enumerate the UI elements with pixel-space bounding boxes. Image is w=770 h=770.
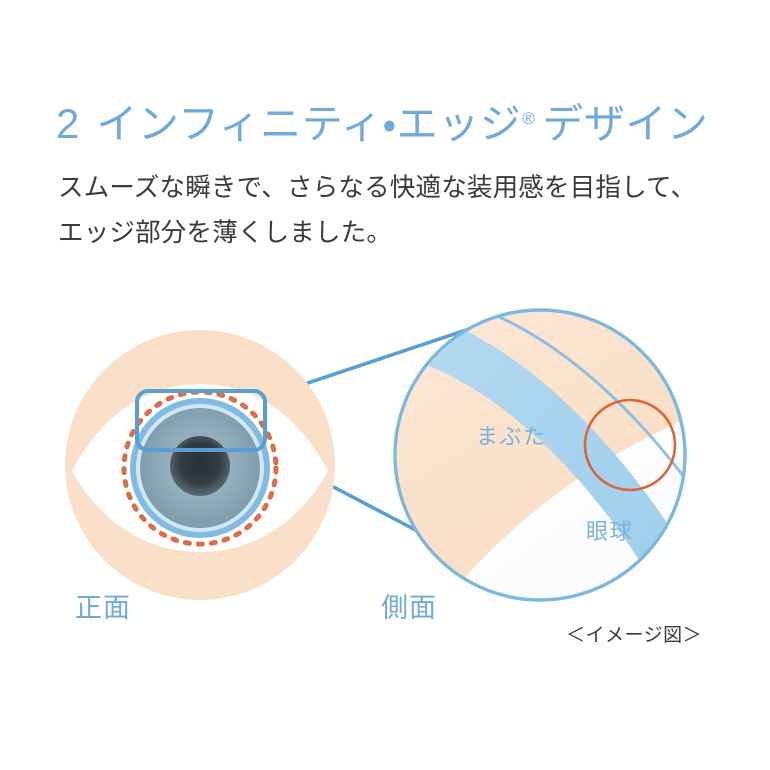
label-front-view: 正面 xyxy=(75,586,131,625)
figure-caption: ＜イメージ図＞ xyxy=(566,620,702,647)
body-paragraph: スムーズな瞬きで、さらなる快適な装用感を目指して、 エッジ部分を薄くしました。 xyxy=(58,166,696,256)
body-line-2: エッジ部分を薄くしました。 xyxy=(58,211,696,256)
body-line-1: スムーズな瞬きで、さらなる快適な装用感を目指して、 xyxy=(58,166,696,211)
front-view-group xyxy=(65,330,335,600)
section-number: 2 xyxy=(56,100,79,148)
label-eyeball: 眼球 xyxy=(586,514,633,546)
page-title: 2 インフィニティ・エッジ ® デザイン xyxy=(56,90,708,150)
registered-trademark-icon: ® xyxy=(522,109,535,129)
heading-tail-text: デザイン xyxy=(542,90,708,150)
heading-main-text: インフィニティ・エッジ xyxy=(96,90,521,150)
label-eyelid: まぶた xyxy=(476,419,547,451)
label-side-view: 側面 xyxy=(381,586,437,625)
side-view-group xyxy=(355,250,760,625)
pupil xyxy=(170,436,230,496)
